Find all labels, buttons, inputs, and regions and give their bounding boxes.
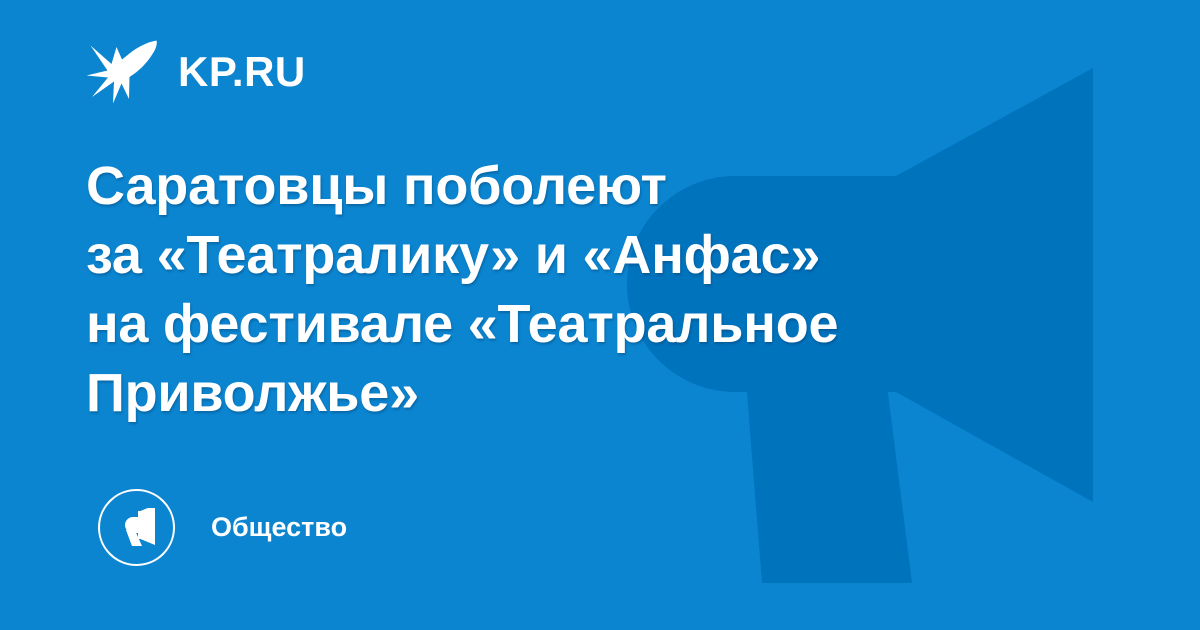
headline-line: Приволжье» (86, 359, 946, 428)
rubric-icon-circle (98, 489, 175, 566)
headline-line: за «Театралику» и «Анфас» (86, 221, 946, 290)
brand-logo[interactable]: KP.RU (86, 32, 306, 112)
rubric-badge[interactable]: Общество (98, 489, 347, 566)
page-title: Саратовцы поболеют за «Театралику» и «Ан… (86, 152, 946, 428)
brand-name: KP.RU (178, 51, 306, 93)
swallow-bird-icon (86, 33, 158, 111)
rubric-label: Общество (211, 514, 347, 541)
share-card: KP.RU Саратовцы поболеют за «Театралику»… (0, 0, 1200, 630)
megaphone-icon (115, 508, 159, 548)
headline-line: Саратовцы поболеют (86, 152, 946, 221)
headline-line: на фестивале «Театральное (86, 290, 946, 359)
